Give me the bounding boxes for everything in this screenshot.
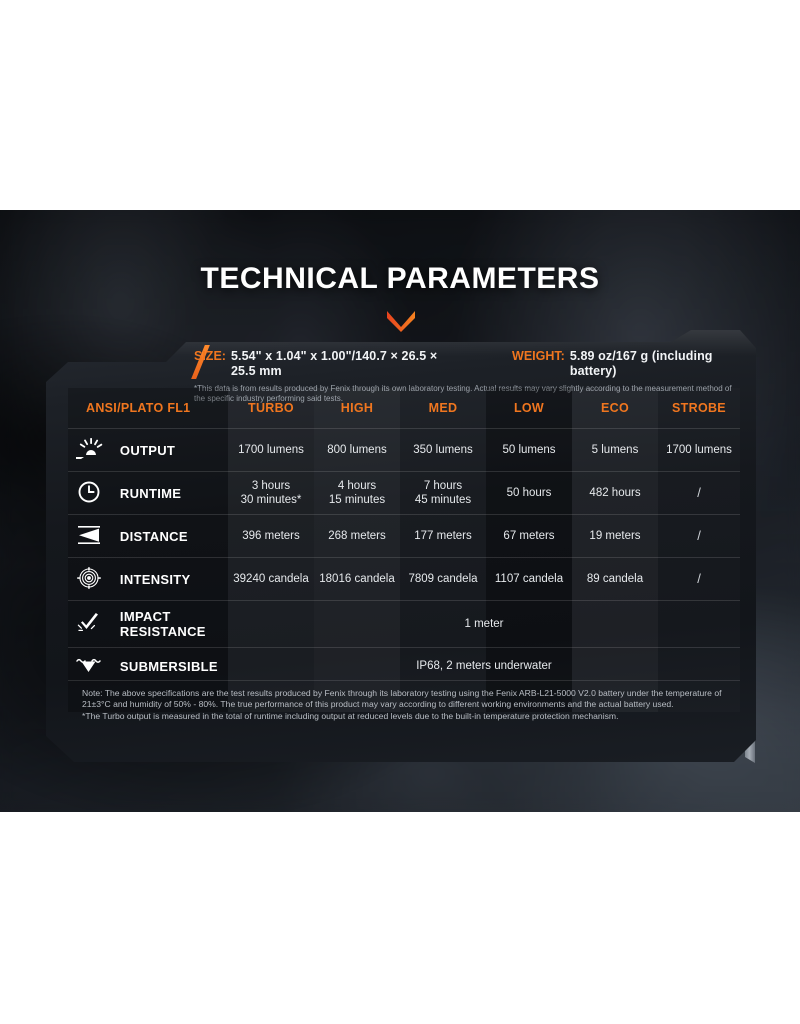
row-label-runtime: RUNTIME (68, 472, 228, 515)
runtime-high-l1: 4 hours (314, 479, 400, 493)
table-header-turbo: TURBO (228, 388, 314, 429)
table-row-impact-resistance: IMPACTRESISTANCE 1 meter (68, 601, 740, 648)
cell-output-eco: 5 lumens (572, 429, 658, 472)
cell-impact-value: 1 meter (228, 601, 740, 648)
cell-distance-high: 268 meters (314, 515, 400, 558)
cell-intensity-high: 18016 candela (314, 558, 400, 601)
row-label-impact: IMPACTRESISTANCE (68, 601, 228, 648)
cell-distance-low: 67 meters (486, 515, 572, 558)
row-label-output: OUTPUT (68, 429, 228, 472)
runtime-high-l2: 15 minutes (314, 493, 400, 507)
table-row-distance: DISTANCE 396 meters 268 meters 177 meter… (68, 515, 740, 558)
runtime-med-l1: 7 hours (400, 479, 486, 493)
cell-output-med: 350 lumens (400, 429, 486, 472)
row-label-text-intensity: INTENSITY (120, 572, 191, 587)
impact-label-line2: RESISTANCE (120, 624, 206, 639)
clock-icon (74, 480, 108, 504)
cell-runtime-strobe: / (658, 472, 740, 515)
cell-runtime-turbo: 3 hours 30 minutes* (228, 472, 314, 515)
cell-runtime-high: 4 hours 15 minutes (314, 472, 400, 515)
cell-submersible-value: IP68, 2 meters underwater (228, 648, 740, 685)
cell-runtime-eco: 482 hours (572, 472, 658, 515)
row-label-text-impact: IMPACTRESISTANCE (120, 609, 206, 639)
spec-table-wrapper: ANSI/PLATO FL1 TURBO HIGH MED LOW ECO ST… (68, 388, 740, 684)
weight-value: 5.89 oz/167 g (including battery) (570, 349, 739, 379)
table-header-low: LOW (486, 388, 572, 429)
row-label-text-output: OUTPUT (120, 443, 175, 458)
table-row-output: OUTPUT 1700 lumens 800 lumens 350 lumens… (68, 429, 740, 472)
cell-intensity-turbo: 39240 candela (228, 558, 314, 601)
technical-parameters-panel: SIZE: 5.54" x 1.04" x 1.00"/140.7 × 26.5… (46, 330, 756, 770)
cell-distance-med: 177 meters (400, 515, 486, 558)
light-burst-icon (74, 437, 108, 461)
row-label-text-submersible: SUBMERSIBLE (120, 659, 218, 674)
runtime-turbo-l2: 30 minutes* (228, 493, 314, 507)
spec-table: ANSI/PLATO FL1 TURBO HIGH MED LOW ECO ST… (68, 388, 740, 684)
cell-runtime-med: 7 hours 45 minutes (400, 472, 486, 515)
runtime-turbo-l1: 3 hours (228, 479, 314, 493)
cell-distance-strobe: / (658, 515, 740, 558)
row-label-distance: DISTANCE (68, 515, 228, 558)
runtime-med-l2: 45 minutes (400, 493, 486, 507)
table-header-eco: ECO (572, 388, 658, 429)
table-header-ansi: ANSI/PLATO FL1 (68, 388, 228, 429)
table-row-submersible: SUBMERSIBLE IP68, 2 meters underwater (68, 648, 740, 685)
table-header-row: ANSI/PLATO FL1 TURBO HIGH MED LOW ECO ST… (68, 388, 740, 429)
row-label-text-distance: DISTANCE (120, 529, 188, 544)
cell-output-high: 800 lumens (314, 429, 400, 472)
footnote-line-2: *The Turbo output is measured in the tot… (82, 711, 732, 722)
water-drop-icon (74, 653, 108, 677)
weight-label: WEIGHT: (512, 349, 565, 364)
table-header-high: HIGH (314, 388, 400, 429)
row-label-text-runtime: RUNTIME (120, 486, 181, 501)
table-header-strobe: STROBE (658, 388, 740, 429)
size-value: 5.54" x 1.04" x 1.00"/140.7 × 26.5 × 25.… (231, 349, 459, 379)
cell-intensity-eco: 89 candela (572, 558, 658, 601)
beam-distance-icon (74, 523, 108, 547)
cell-distance-turbo: 396 meters (228, 515, 314, 558)
cell-intensity-strobe: / (658, 558, 740, 601)
cell-intensity-med: 7809 candela (400, 558, 486, 601)
cell-output-low: 50 lumens (486, 429, 572, 472)
cell-output-turbo: 1700 lumens (228, 429, 314, 472)
impact-drop-icon (74, 611, 108, 635)
cell-intensity-low: 1107 candela (486, 558, 572, 601)
footnote-line-1: Note: The above specifications are the t… (82, 688, 732, 711)
table-row-runtime: RUNTIME 3 hours 30 minutes* 4 hours 15 m… (68, 472, 740, 515)
target-intensity-icon (74, 566, 108, 590)
size-weight-strip: SIZE: 5.54" x 1.04" x 1.00"/140.7 × 26.5… (194, 349, 739, 389)
impact-label-line1: IMPACT (120, 609, 171, 624)
row-label-intensity: INTENSITY (68, 558, 228, 601)
note-separator (68, 680, 740, 681)
footnote-block: Note: The above specifications are the t… (82, 688, 732, 722)
table-header-med: MED (400, 388, 486, 429)
row-label-submersible: SUBMERSIBLE (68, 648, 228, 685)
cell-output-strobe: 1700 lumens (658, 429, 740, 472)
size-label: SIZE: (194, 349, 226, 364)
cell-runtime-low: 50 hours (486, 472, 572, 515)
table-row-intensity: INTENSITY 39240 candela 18016 candela 78… (68, 558, 740, 601)
page-title: TECHNICAL PARAMETERS (0, 262, 800, 296)
cell-distance-eco: 19 meters (572, 515, 658, 558)
